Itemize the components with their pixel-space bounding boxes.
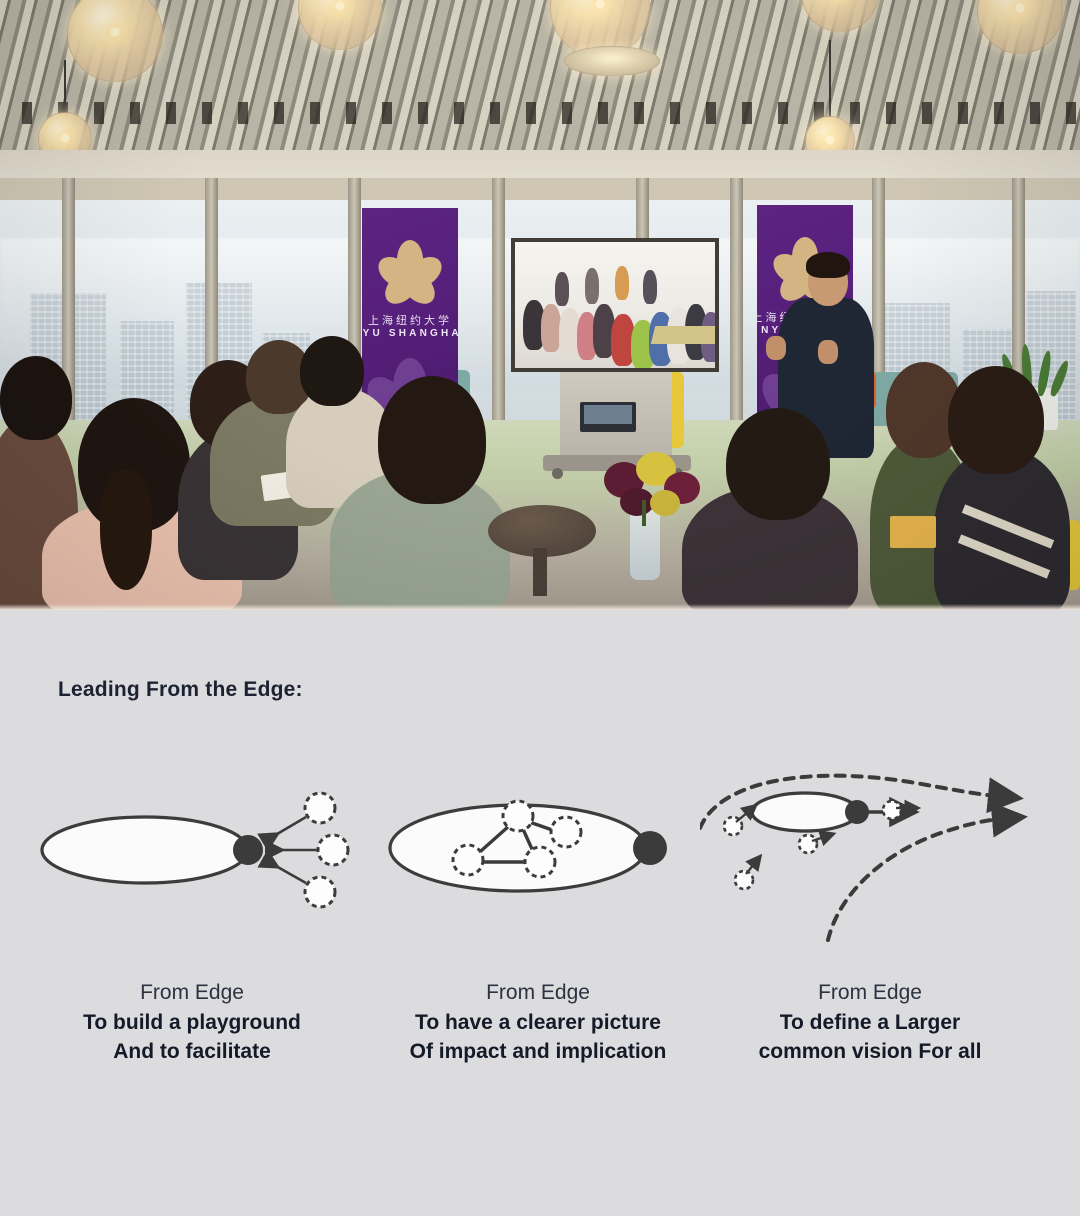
window-shade: [743, 178, 872, 200]
screen-person: [555, 272, 569, 306]
window-shade: [0, 178, 62, 200]
speaker-hand: [818, 340, 838, 364]
window-mullion: [730, 178, 743, 433]
tv-caster: [552, 468, 563, 479]
external-node: [305, 877, 335, 907]
window-shade: [361, 178, 492, 200]
flower: [650, 490, 680, 516]
conference-photo: 上海纽约大学 NYU SHANGHAI 上海纽约大学 NYU SH: [0, 0, 1080, 610]
flower: [620, 488, 654, 516]
window-shade: [75, 178, 205, 200]
audience-head: [378, 376, 486, 504]
edge-node: [633, 831, 667, 865]
caption-build-playground: From Edge To build a playground And to f…: [22, 978, 362, 1066]
speaker-hand: [766, 336, 786, 360]
external-node: [305, 793, 335, 823]
caption-line-2: Of impact and implication: [368, 1037, 708, 1066]
window-mullion: [492, 178, 505, 433]
diagram-2-svg: [368, 770, 708, 930]
diagram-clearer-picture: [368, 770, 708, 930]
caption-line-1: To define a Larger: [700, 1008, 1040, 1037]
audience-head: [300, 336, 364, 406]
screen-table: [651, 326, 719, 344]
audience-head: [726, 408, 830, 520]
screen-person: [615, 266, 629, 300]
network-node: [525, 847, 555, 877]
sweeping-dashed-arrow: [828, 819, 1000, 940]
inbound-arrow: [267, 861, 306, 883]
diagram-3-svg: [700, 770, 1040, 955]
slide-title: Leading From the Edge:: [58, 678, 303, 702]
screen-person: [643, 270, 657, 304]
diagram-larger-common-vision: [700, 770, 1040, 930]
window-shade: [1025, 178, 1080, 200]
audience-ponytail: [100, 470, 152, 590]
table-leg: [533, 548, 547, 596]
screen-person: [541, 304, 561, 352]
scattered-node: [735, 871, 753, 889]
external-node: [318, 835, 348, 865]
caption-larger-common-vision: From Edge To define a Larger common visi…: [700, 978, 1040, 1066]
slide-photo-composite: 上海纽约大学 NYU SHANGHAI 上海纽约大学 NYU SH: [0, 0, 1080, 1216]
network-node: [453, 845, 483, 875]
caption-line-2: And to facilitate: [22, 1037, 362, 1066]
caption-line-1: To build a playground: [22, 1008, 362, 1037]
nyu-torch-logo-icon: [379, 242, 441, 304]
edge-node: [845, 800, 869, 824]
audience-head: [0, 356, 72, 440]
laptop: [580, 402, 636, 432]
screen-person: [585, 268, 599, 304]
network-node: [551, 817, 581, 847]
scattered-node: [883, 801, 901, 819]
caption-line-2: common vision For all: [700, 1037, 1040, 1066]
ceiling-vent-row: [0, 102, 1080, 124]
caption-from-edge: From Edge: [700, 978, 1040, 1008]
inbound-arrow: [267, 817, 306, 840]
banner-english-text: NYU SHANGHAI: [362, 328, 458, 339]
caption-from-edge: From Edge: [368, 978, 708, 1008]
presentation-screen: [511, 238, 719, 372]
caption-from-edge: From Edge: [22, 978, 362, 1008]
speaker-hair: [806, 252, 850, 278]
network-node: [503, 801, 533, 831]
window-shade: [649, 178, 730, 200]
platform-ellipse: [42, 817, 248, 883]
banner-chinese-text: 上海纽约大学: [368, 312, 452, 328]
diagram-build-playground: [20, 770, 360, 930]
audience-notebook: [890, 516, 936, 548]
platform-ellipse: [752, 793, 858, 831]
caption-clearer-picture: From Edge To have a clearer picture Of i…: [368, 978, 708, 1066]
audience-head: [948, 366, 1044, 474]
diagram-1-svg: [20, 770, 360, 930]
caption-line-1: To have a clearer picture: [368, 1008, 708, 1037]
edge-node: [233, 835, 263, 865]
flower-stem: [642, 500, 646, 526]
window-shade: [885, 178, 1012, 200]
scattered-node: [799, 835, 817, 853]
window-shade: [218, 178, 348, 200]
window-shade: [505, 178, 636, 200]
